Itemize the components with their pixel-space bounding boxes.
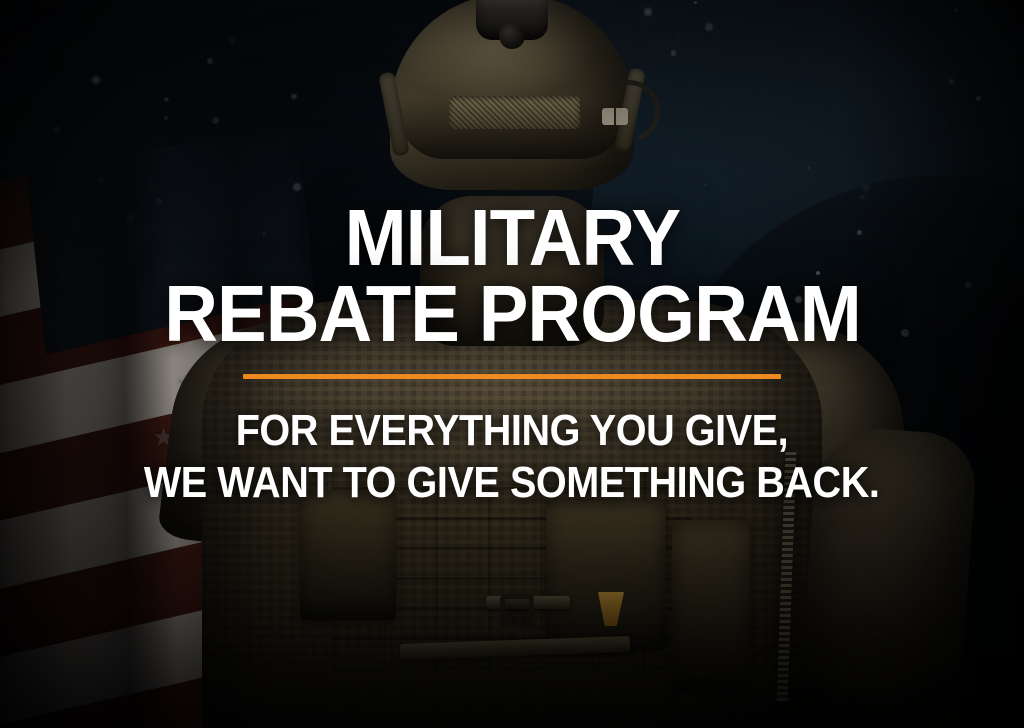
headline-line-1: MILITARY xyxy=(344,200,680,276)
subheadline-line-1: FOR EVERYTHING YOU GIVE, xyxy=(236,405,789,457)
headline-line-2: REBATE PROGRAM xyxy=(164,276,861,352)
military-rebate-banner: ★★★★★★ MILITARY REBATE PRO xyxy=(0,0,1024,728)
orange-divider xyxy=(243,374,781,379)
text-overlay: MILITARY REBATE PROGRAM FOR EVERYTHING Y… xyxy=(0,0,1024,728)
subheadline-line-2: WE WANT TO GIVE SOMETHING BACK. xyxy=(144,457,880,509)
